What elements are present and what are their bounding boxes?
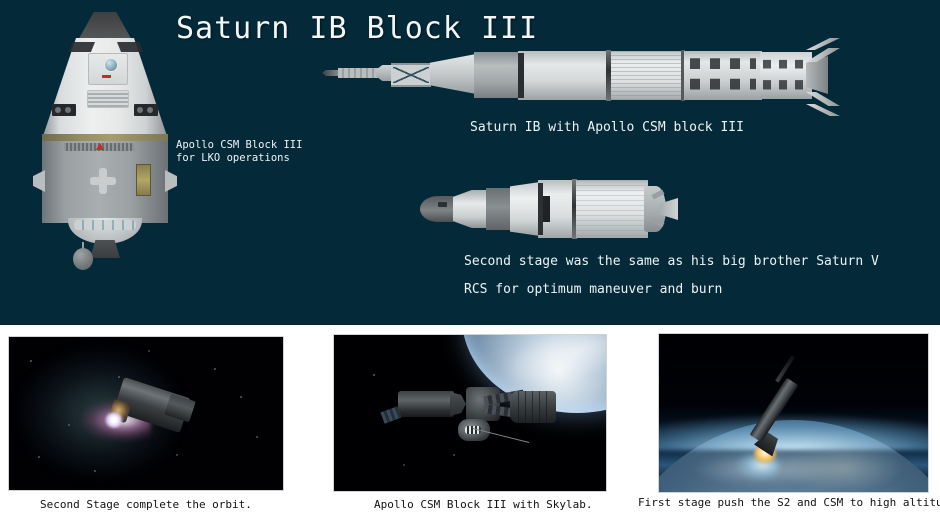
capsule-thruster-box-right (134, 104, 158, 116)
rcs-thruster-left (33, 170, 45, 192)
service-module-panel-right (136, 164, 151, 196)
s2-main-tank (576, 180, 648, 238)
stack-first-stage-upper (611, 51, 683, 100)
fin-lower-inner (806, 92, 840, 106)
second-stage-csm-render (420, 178, 660, 240)
csm-vehicle-body (398, 391, 454, 417)
csm-skylab-docking[interactable] (334, 335, 606, 491)
plume-core (105, 412, 123, 428)
fin-upper-inner (806, 48, 840, 62)
rcs-thruster-right (165, 170, 177, 192)
landmass (787, 444, 907, 488)
screenshot-gallery: Second Stage complete the orbit. Apollo … (0, 325, 940, 529)
rcs-cluster-center (90, 168, 116, 194)
capsule-caption-line2: for LKO operations (176, 152, 302, 165)
shot-caption-3: First stage push the S2 and CSM to high … (638, 496, 940, 509)
les-motor (338, 68, 378, 78)
antenna-dish (73, 248, 93, 270)
second-stage-orbit-burn[interactable] (9, 337, 283, 490)
s2-forward-tank (538, 180, 574, 238)
first-stage-ascent[interactable] (659, 334, 928, 492)
second-stage-caption: Second stage was the same as his big bro… (464, 248, 879, 304)
stack-second-stage (518, 51, 608, 100)
stack-first-stage-tanks (684, 51, 762, 100)
shot-caption-1: Second Stage complete the orbit. (40, 498, 252, 511)
capsule-window (104, 58, 118, 72)
s2-command-module (453, 190, 487, 228)
capsule-vent-grille (87, 90, 129, 108)
s2-adapter (510, 182, 540, 236)
skylab-module (466, 387, 500, 421)
second-stage-caption-line1: Second stage was the same as his big bro… (464, 248, 879, 276)
capsule-cone-shade-right (117, 42, 143, 52)
hero-panel: Saturn IB Block III Apollo CSM Block III… (0, 0, 940, 325)
stack-interstage (474, 52, 520, 98)
warning-triangle-icon (96, 143, 104, 150)
saturn-ib-full-stack-render (322, 32, 842, 124)
capsule-nose (77, 12, 133, 42)
second-stage-caption-line2: RCS for optimum maneuver and burn (464, 276, 879, 304)
stack-caption: Saturn IB with Apollo CSM block III (470, 120, 744, 135)
stack-fins (804, 36, 842, 118)
capsule-cone-shade-left (69, 42, 95, 52)
capsule-heatshield-band (42, 134, 168, 141)
capsule-hatch (88, 53, 128, 85)
stack-csm (376, 65, 392, 81)
capsule-decal (102, 75, 111, 78)
stack-truss-adapter (391, 63, 431, 87)
stack-payload-adapter (430, 54, 476, 94)
docking-adapter (458, 419, 490, 441)
s2-service-module-shade (486, 188, 510, 230)
shot-caption-2: Apollo CSM Block III with Skylab. (374, 498, 593, 511)
apollo-csm-capsule-render (30, 12, 180, 272)
capsule-caption-line1: Apollo CSM Block III (176, 139, 302, 152)
detached-module (510, 391, 556, 423)
capsule-thruster-box-left (52, 104, 76, 116)
capsule-caption: Apollo CSM Block III for LKO operations (176, 139, 302, 165)
s2-capsule-nose (420, 196, 456, 222)
